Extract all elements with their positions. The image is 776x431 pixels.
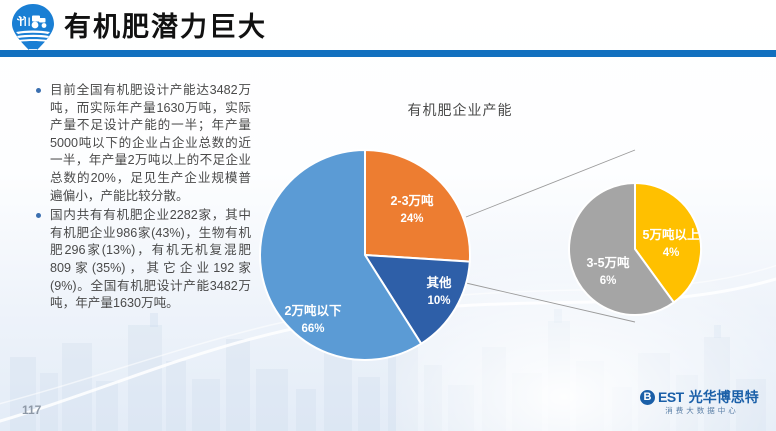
slide-header: 有机肥潜力巨大	[0, 0, 776, 56]
secondary-pie: 5万吨以上 4% 3-5万吨 6%	[569, 183, 701, 315]
pie-of-pie-chart: 2-3万吨 24% 其他 10% 2万吨以下 66% 5万吨以上 4% 3-5万…	[250, 86, 776, 386]
pie-label-value: 66%	[301, 323, 324, 335]
page-title: 有机肥潜力巨大	[64, 8, 267, 46]
pie-label-category: 2-3万吨	[390, 193, 434, 208]
pie-label-value: 10%	[427, 295, 450, 307]
pie-label-category: 其他	[426, 275, 452, 290]
brand-mark-icon: B	[640, 390, 655, 405]
brand-latin-text: EST	[658, 389, 684, 405]
list-item: 目前全国有机肥设计产能达3482万吨，而实际年产量1630万吨，实际产量不足设计…	[36, 82, 251, 205]
pie-label-category: 2万吨以下	[285, 303, 342, 318]
list-item: 国内共有有机肥企业2282家，其中有机肥企业986家(43%)，生物有机肥296…	[36, 207, 251, 313]
bullet-list: 目前全国有机肥设计产能达3482万吨，而实际年产量1630万吨，实际产量不足设计…	[36, 82, 251, 315]
pie-label-value: 24%	[400, 213, 423, 225]
pie-label-value: 4%	[663, 247, 680, 259]
brand-subtitle: 消费大数据中心	[642, 405, 762, 416]
pie-label-value: 6%	[600, 275, 617, 287]
brand-cn-text: 光华博思特	[689, 387, 759, 407]
pie-label-category: 5万吨以上	[643, 227, 700, 242]
slide-canvas: 有机肥潜力巨大 目前全国有机肥设计产能达3482万吨，而实际年产量1630万吨，…	[0, 0, 776, 431]
pie-label-category: 3-5万吨	[586, 255, 630, 270]
farm-pin-icon	[8, 3, 58, 55]
brand-logo-main: B EST 光华博思特	[640, 387, 759, 407]
main-pie: 2-3万吨 24% 其他 10% 2万吨以下 66%	[260, 150, 470, 360]
header-accent-bar	[0, 50, 776, 57]
page-number: 117	[22, 403, 41, 417]
brand-logo: B EST 光华博思特 消费大数据中心	[640, 387, 764, 421]
chart-area: 有机肥企业产能 2-3万吨 24% 其他 10% 2万吨以下 66%	[250, 86, 776, 386]
